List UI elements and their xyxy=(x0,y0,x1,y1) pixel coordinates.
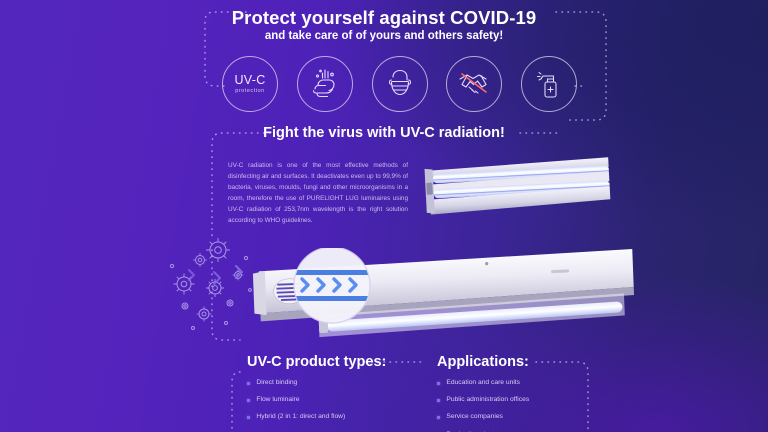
sanitizer-spray-icon xyxy=(521,56,577,112)
page-title: Protect yourself against COVID-19 xyxy=(0,7,768,29)
bullet-square-icon xyxy=(437,399,440,402)
list-item: Public administration offices xyxy=(437,397,529,404)
uvc-icon-label: UV-C xyxy=(234,73,265,87)
product-types-heading: UV-C product types: xyxy=(247,354,386,370)
bullet-square-icon xyxy=(437,382,440,385)
section-title: Fight the virus with UV-C radiation! xyxy=(0,125,768,141)
bullet-square-icon xyxy=(247,416,250,419)
list-item: Flow luminaire xyxy=(247,397,345,404)
bullet-square-icon xyxy=(437,416,440,419)
bullet-square-icon xyxy=(247,399,250,402)
list-item: Service companies xyxy=(437,414,529,421)
prevention-icon-row: UV-C protection xyxy=(218,56,578,114)
bullet-square-icon xyxy=(247,382,250,385)
uvc-flow-luminaire-photo xyxy=(252,248,652,348)
applications-list: Education and care units Public administ… xyxy=(437,380,529,432)
face-mask-icon xyxy=(372,56,428,112)
handwashing-icon xyxy=(297,56,353,112)
no-handshake-icon xyxy=(446,56,502,112)
uvc-protection-icon: UV-C protection xyxy=(222,56,278,112)
applications-heading: Applications: xyxy=(437,354,529,370)
list-item: Education and care units xyxy=(437,380,529,387)
infographic-slide: Protect yourself against COVID-19 and ta… xyxy=(0,0,768,432)
uvc-tube-luminaire-photo xyxy=(424,152,614,238)
uvc-icon-sublabel: protection xyxy=(234,89,265,95)
product-types-list: Direct binding Flow luminaire Hybrid (2 … xyxy=(247,380,345,432)
list-item: Direct binding xyxy=(247,380,345,387)
page-subtitle: and take care of of yours and others saf… xyxy=(0,30,768,42)
list-item: Hybrid (2 in 1: direct and flow) xyxy=(247,414,345,421)
section-paragraph: UV-C radiation is one of the most effect… xyxy=(228,160,408,226)
